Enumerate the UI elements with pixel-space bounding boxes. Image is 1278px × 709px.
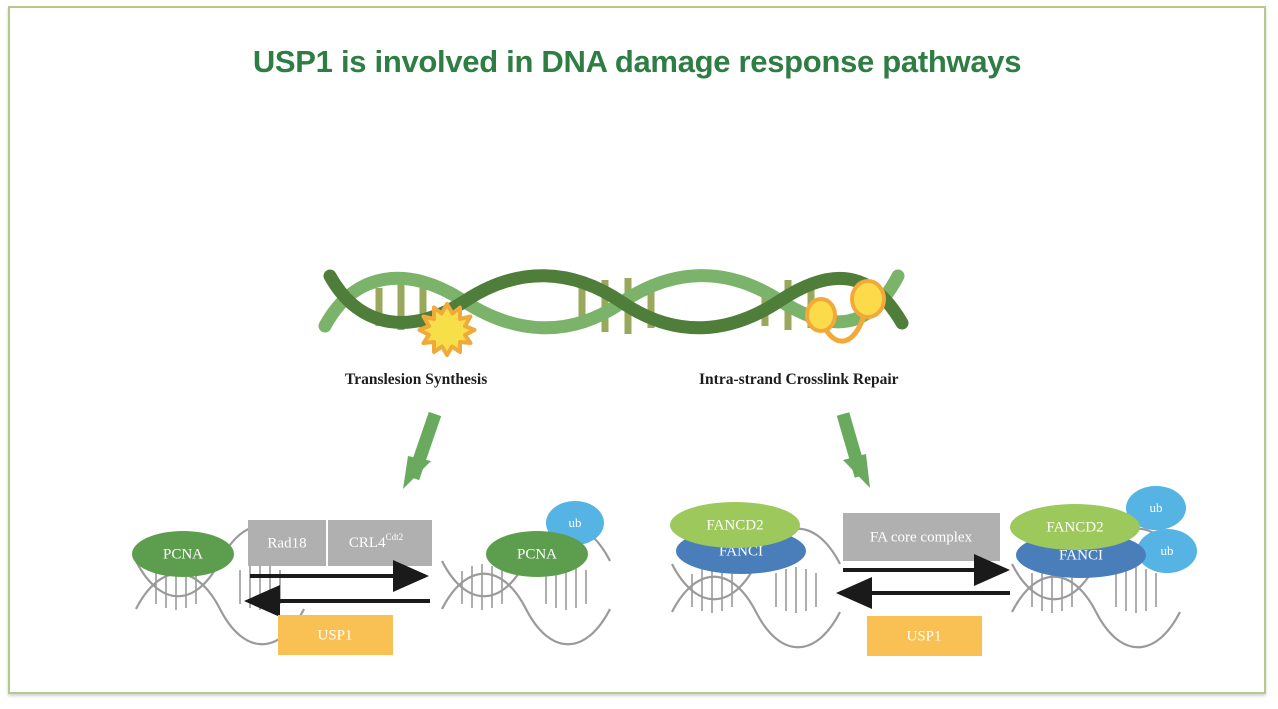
pathway-label-crosslink: Intra-strand Crosslink Repair — [699, 371, 899, 389]
diagram-svg: PCNA Rad18 CRL4Cdt2 USP1 — [10, 8, 1268, 696]
translesion-enzyme-crl4-box[interactable]: CRL4Cdt2 — [328, 520, 432, 566]
crosslink-usp1-box[interactable]: USP1 — [867, 616, 982, 656]
intra-strand-crosslink-icon — [807, 281, 884, 341]
translesion-substrate-pcna: PCNA — [132, 531, 234, 577]
pathway-label-translesion: Translesion Synthesis — [345, 371, 487, 389]
translesion-lesion-burst-icon — [420, 304, 475, 355]
crosslink-substrate-fancd2-label: FANCD2 — [706, 517, 763, 533]
translesion-enzyme-rad18-box[interactable]: Rad18 — [248, 520, 326, 566]
translesion-product-pcna: PCNA — [486, 531, 588, 577]
slide-canvas: USP1 is involved in DNA damage response … — [8, 6, 1266, 694]
translesion-product-pcna-label: PCNA — [517, 546, 557, 562]
pathway-arrow-translesion — [403, 414, 435, 489]
crosslink-product-ub-lower-label: ub — [1161, 543, 1174, 558]
translesion-usp1-box[interactable]: USP1 — [278, 615, 393, 655]
crosslink-product-fancd2: FANCD2 — [1010, 504, 1140, 550]
translesion-usp1-label: USP1 — [317, 627, 352, 643]
crosslink-product-ub-lower: ub — [1137, 529, 1197, 573]
diagram-stage: PCNA Rad18 CRL4Cdt2 USP1 — [10, 8, 1268, 696]
translesion-product-ub-label: ub — [569, 515, 582, 530]
translesion-enzyme-rad18-label: Rad18 — [267, 535, 306, 551]
crosslink-enzyme-fa-core-label: FA core complex — [870, 529, 973, 545]
translesion-substrate-pcna-label: PCNA — [163, 546, 203, 562]
crosslink-substrate-fancd2: FANCD2 — [670, 502, 800, 548]
crosslink-product-ub-upper-label: ub — [1150, 500, 1163, 515]
crosslink-product-fancd2-label: FANCD2 — [1046, 519, 1103, 535]
crosslink-usp1-label: USP1 — [906, 628, 941, 644]
crosslink-enzyme-fa-core-box[interactable]: FA core complex — [843, 513, 1000, 561]
pathway-arrow-crosslink — [843, 414, 870, 488]
dna-double-helix — [325, 276, 902, 355]
